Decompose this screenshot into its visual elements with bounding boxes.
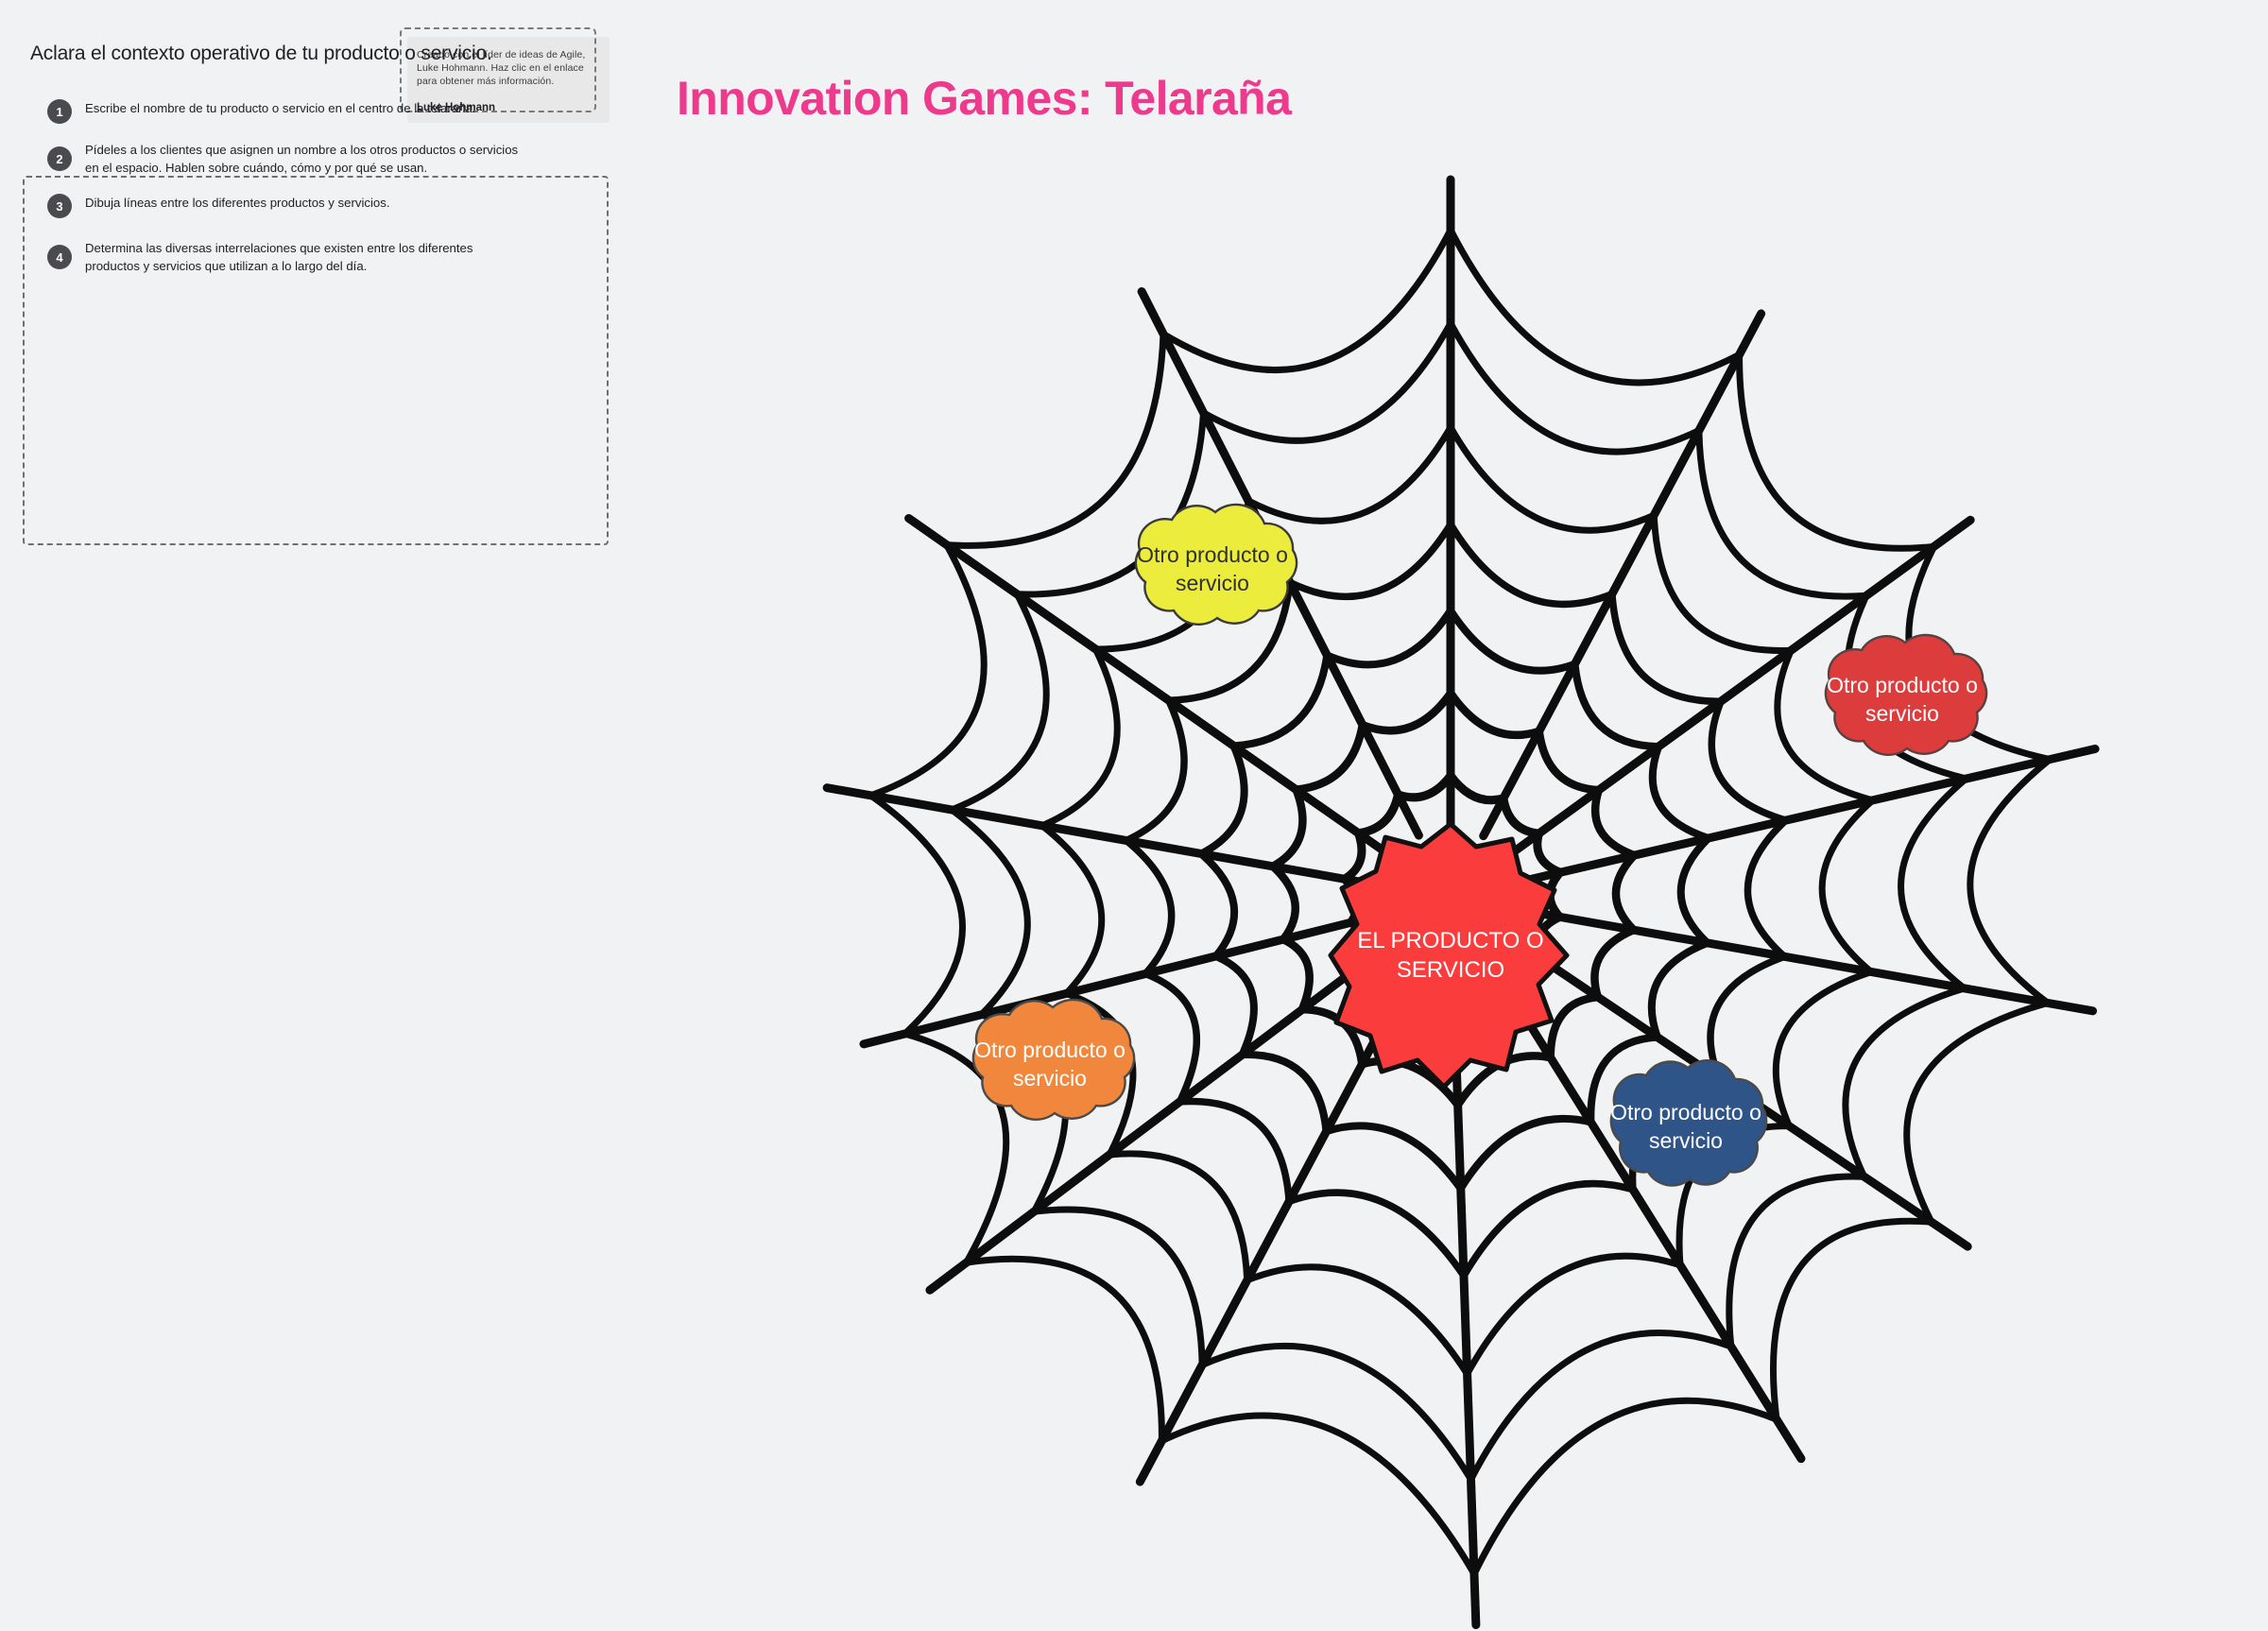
node-label: Otro producto o servicio xyxy=(1803,671,2002,728)
web-ring-segment xyxy=(1273,790,1302,867)
web-ring-segment xyxy=(1201,746,1245,853)
web-ring-segment xyxy=(1451,427,1654,530)
web-radial xyxy=(1520,910,2093,1011)
web-ring-segment xyxy=(1595,790,1634,855)
web-ring-segment xyxy=(1773,1221,1931,1419)
web-ring-segment xyxy=(1204,323,1452,440)
web-ring-segment xyxy=(1327,1125,1461,1188)
step-text: Pídeles a los clientes que asignen un no… xyxy=(85,141,529,177)
web-ring-segment xyxy=(1247,1267,1468,1374)
page-title: Innovation Games: Telaraña xyxy=(677,71,1291,126)
web-ring-segment xyxy=(1297,725,1363,789)
web-ring-segment xyxy=(1145,974,1196,1102)
instruction-step: 3 Dibuja líneas entre los diferentes pro… xyxy=(47,194,567,218)
web-ring-segment xyxy=(1451,610,1575,671)
web-ring-segment xyxy=(1747,820,1785,956)
web-ring-segment xyxy=(1822,800,1873,972)
web-ring-segment xyxy=(1451,524,1612,605)
step-text: Escribe el nombre de tu producto o servi… xyxy=(85,99,475,117)
node-other-product-blue[interactable]: Otro producto o servicio xyxy=(1591,1047,1780,1206)
web-ring-segment xyxy=(1234,655,1328,746)
web-ring-segment xyxy=(967,1259,1162,1441)
web-ring-segment xyxy=(1126,700,1184,840)
web-ring-segment xyxy=(1042,826,1102,994)
step-number-badge: 4 xyxy=(47,245,72,269)
web-ring-segment xyxy=(1290,524,1451,597)
web-ring-segment xyxy=(1163,230,1451,369)
web-ring-segment xyxy=(1161,1416,1474,1574)
web-ring-segment xyxy=(1451,693,1539,734)
web-ring-segment xyxy=(1711,701,1785,820)
web-radial xyxy=(1484,314,1761,836)
instruction-step: 1 Escribe el nombre de tu producto o ser… xyxy=(47,99,567,124)
web-ring-segment xyxy=(1034,1210,1202,1365)
web-ring-segment xyxy=(1283,939,1310,1009)
web-ring-segment xyxy=(1776,972,1871,1126)
node-other-product-orange[interactable]: Otro producto o servicio xyxy=(951,988,1149,1140)
step-number-badge: 3 xyxy=(47,194,72,218)
step-text: Dibuja líneas entre los diferentes produ… xyxy=(85,194,390,212)
web-ring-segment xyxy=(1216,956,1254,1055)
web-ring-segment xyxy=(1126,841,1172,974)
instructions-heading: Aclara el contexto operativo de tu produ… xyxy=(30,43,492,65)
node-other-product-red[interactable]: Otro producto o servicio xyxy=(1803,624,2002,775)
node-label: Otro producto o servicio xyxy=(1113,541,1312,597)
web-ring-segment xyxy=(1681,838,1709,943)
web-ring-segment xyxy=(1653,747,1709,838)
web-ring-segment xyxy=(1612,594,1721,702)
instruction-step: 4 Determina las diversas interrelaciones… xyxy=(47,239,567,275)
web-ring-segment xyxy=(870,796,962,1034)
web-ring-segment xyxy=(1179,1102,1289,1202)
instructions-step-list: 1 Escribe el nombre de tu producto o ser… xyxy=(47,99,567,292)
web-ring-segment xyxy=(1451,323,1699,452)
web-ring-segment xyxy=(1970,760,2050,1004)
web-ring-segment xyxy=(1202,1346,1470,1479)
web-ring-segment xyxy=(1539,731,1599,790)
web-ring-segment xyxy=(1616,855,1634,930)
node-label: Otro producto o servicio xyxy=(951,1036,1149,1092)
node-other-product-yellow[interactable]: Otro producto o servicio xyxy=(1113,493,1312,644)
node-label: Otro producto o servicio xyxy=(1591,1098,1780,1155)
web-ring-segment xyxy=(1451,230,1740,383)
step-number-badge: 2 xyxy=(47,146,72,171)
web-ring-segment xyxy=(1327,610,1451,664)
web-ring-segment xyxy=(870,545,984,796)
web-ring-segment xyxy=(1594,930,1633,997)
web-ring-segment xyxy=(1652,943,1708,1038)
web-ring-segment xyxy=(1461,1119,1591,1189)
web-ring-segment xyxy=(1289,1193,1464,1276)
web-ring-segment xyxy=(1273,867,1296,939)
web-ring-segment xyxy=(1740,354,1934,548)
web-ring-segment xyxy=(1471,1333,1731,1480)
web-ring-segment xyxy=(1398,776,1451,798)
web-ring-segment xyxy=(1201,854,1234,956)
step-text: Determina las diversas interrelaciones q… xyxy=(85,239,529,275)
node-label: EL PRODUCTO O SERVICIO xyxy=(1327,926,1574,985)
web-ring-segment xyxy=(1042,649,1117,826)
web-ring-segment xyxy=(1901,779,1967,988)
web-ring-segment xyxy=(1474,1400,1777,1573)
step-number-badge: 1 xyxy=(47,99,72,124)
web-ring-segment xyxy=(952,594,1046,810)
node-center-product[interactable]: EL PRODUCTO O SERVICIO xyxy=(1327,818,1574,1092)
web-ring-segment xyxy=(1699,431,1866,597)
web-ring-segment xyxy=(1451,776,1503,800)
instruction-step: 2 Pídeles a los clientes que asignen un … xyxy=(47,141,567,177)
web-ring-segment xyxy=(1907,1003,2048,1222)
web-ring-segment xyxy=(1363,693,1451,730)
